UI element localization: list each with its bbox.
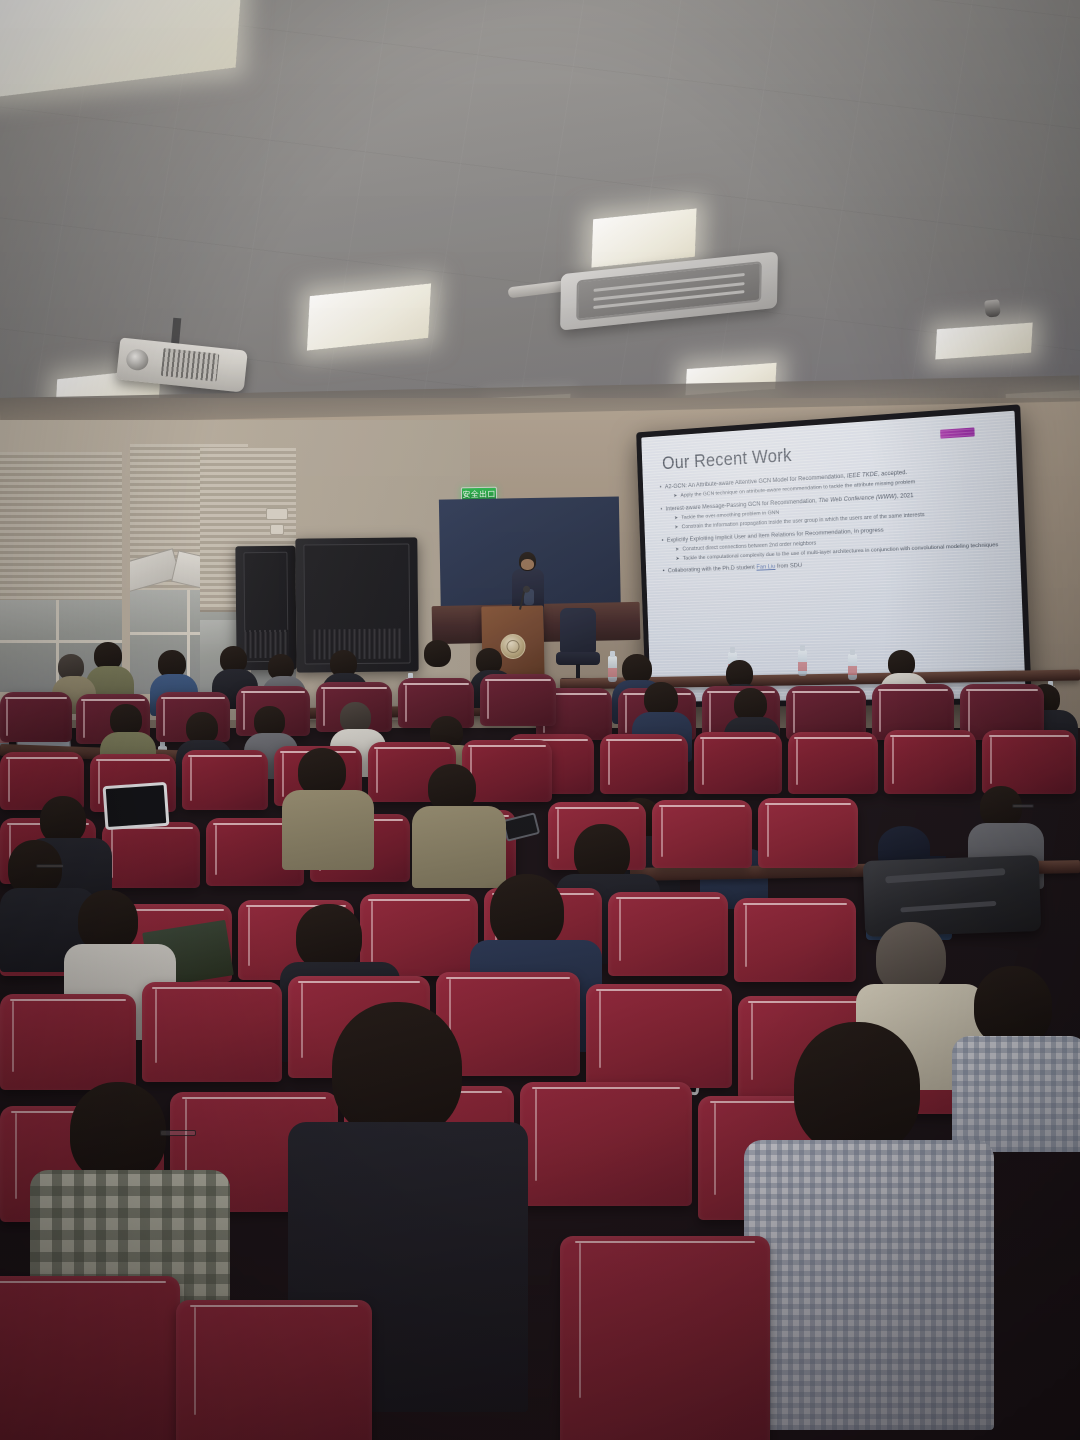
seat[interactable] bbox=[982, 730, 1076, 794]
bullet-marker-icon: • bbox=[660, 506, 662, 514]
audience-seating bbox=[0, 636, 1080, 1440]
eyeglasses-icon bbox=[160, 1130, 196, 1136]
seat[interactable] bbox=[884, 730, 976, 794]
bullet-marker-icon: ➤ bbox=[675, 547, 679, 554]
bullet-marker-icon: • bbox=[661, 537, 663, 545]
speaker-face bbox=[521, 559, 534, 570]
seat[interactable] bbox=[734, 898, 856, 982]
wall-outlet[interactable] bbox=[270, 524, 284, 535]
water-bottle[interactable] bbox=[608, 656, 617, 682]
bullet-marker-icon: ➤ bbox=[673, 493, 677, 500]
seat[interactable] bbox=[0, 1276, 180, 1440]
lecture-hall-scene: 安全出口 Our Recent Work •A2-GCN: An Attribu… bbox=[0, 0, 1080, 1440]
bullet-marker-icon: • bbox=[660, 484, 662, 492]
seat[interactable] bbox=[652, 800, 752, 868]
window-blinds-1[interactable] bbox=[0, 452, 122, 602]
wall-switch-panel[interactable] bbox=[266, 508, 288, 520]
bullet-marker-icon: ➤ bbox=[674, 515, 678, 522]
seat[interactable] bbox=[102, 822, 200, 888]
water-bottle[interactable] bbox=[798, 650, 807, 676]
tablet-device[interactable] bbox=[103, 782, 170, 830]
slide-bullet-list: •A2-GCN: An Attribute-aware Attentive GC… bbox=[660, 463, 1005, 575]
bullet-text: Collaborating with the Ph.D student Fan … bbox=[668, 563, 802, 576]
seat[interactable] bbox=[520, 1082, 692, 1206]
seat[interactable] bbox=[176, 1300, 372, 1440]
ac-grille bbox=[576, 261, 762, 321]
seat[interactable] bbox=[0, 994, 136, 1090]
bullet-marker-icon: • bbox=[663, 568, 665, 576]
seat[interactable] bbox=[560, 1236, 770, 1440]
eyeglasses-icon bbox=[1012, 804, 1034, 808]
projector-vent bbox=[161, 348, 220, 382]
security-camera-icon bbox=[984, 299, 1001, 317]
projector-lens-icon bbox=[125, 348, 149, 371]
bullet-link[interactable]: Fan Liu bbox=[756, 564, 775, 571]
bullet-marker-icon: ➤ bbox=[676, 556, 680, 563]
bullet-marker-icon: ➤ bbox=[674, 525, 678, 532]
seat[interactable] bbox=[480, 674, 556, 726]
seat[interactable] bbox=[608, 892, 728, 976]
eyeglasses-icon bbox=[36, 864, 64, 868]
seat[interactable] bbox=[600, 734, 688, 794]
seat[interactable] bbox=[182, 750, 268, 810]
seat[interactable] bbox=[142, 982, 282, 1082]
microphone-icon bbox=[523, 586, 530, 593]
ceiling bbox=[0, 0, 1080, 440]
seat[interactable] bbox=[586, 984, 732, 1088]
seat[interactable] bbox=[758, 798, 858, 868]
seat[interactable] bbox=[694, 732, 782, 794]
seat[interactable] bbox=[0, 692, 72, 742]
backpack[interactable] bbox=[863, 855, 1042, 937]
water-bottle[interactable] bbox=[848, 654, 857, 680]
seat[interactable] bbox=[788, 732, 878, 794]
